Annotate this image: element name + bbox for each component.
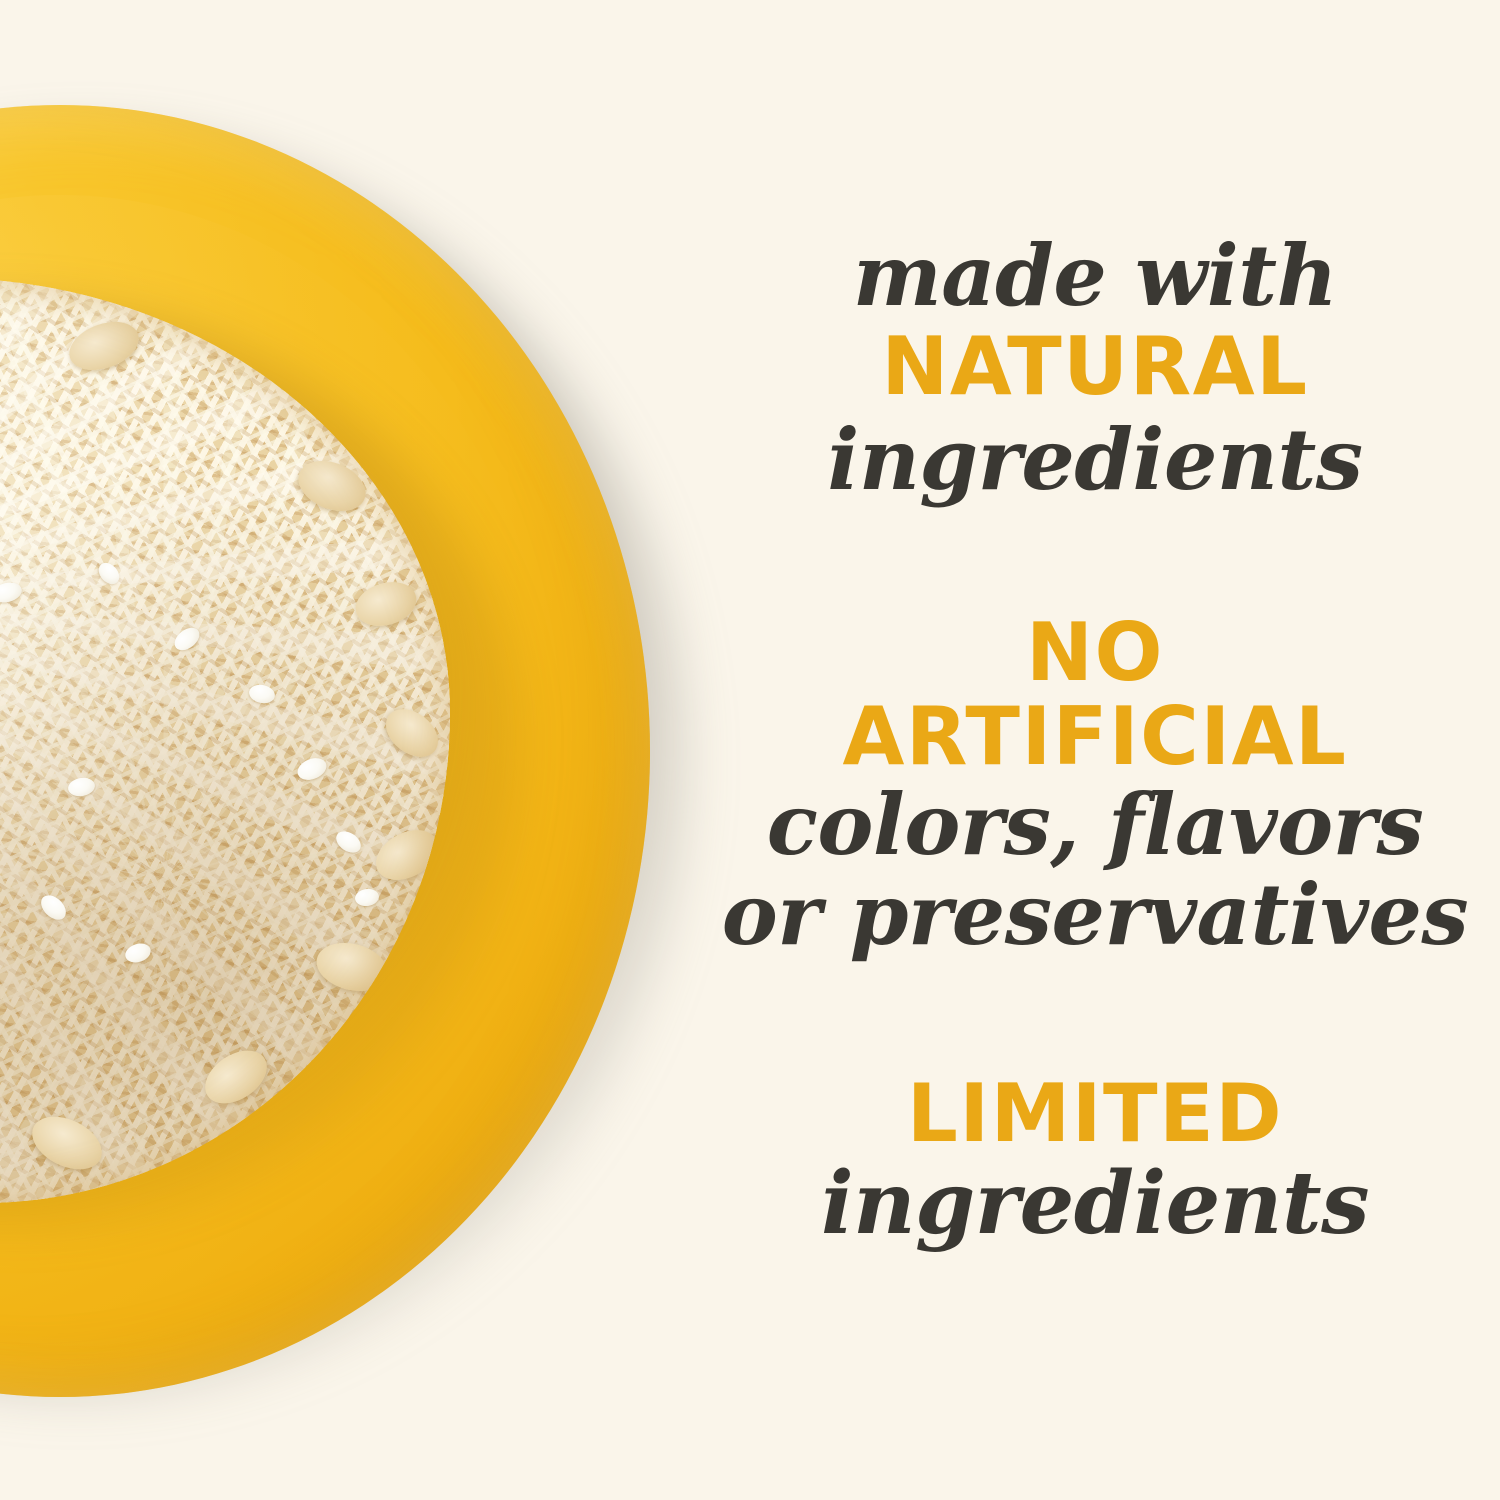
rice-grain <box>295 754 330 784</box>
rice-grain <box>0 580 23 606</box>
rice-grain <box>123 940 153 965</box>
claim-line-emphasis: ARTIFICIAL <box>690 694 1500 780</box>
rice-grain <box>333 827 365 857</box>
food-edge-nib <box>23 1106 110 1180</box>
claim-line: made with <box>690 233 1500 320</box>
food-shading <box>0 278 450 1203</box>
rice-grain <box>67 775 97 797</box>
claim-line-emphasis: NATURAL <box>690 320 1500 414</box>
rice-grain <box>248 682 277 705</box>
promo-image-canvas: made with NATURAL ingredients NO ARTIFIC… <box>0 0 1500 1500</box>
claim-line: ingredients <box>690 1156 1500 1252</box>
claim-block-limited: LIMITED ingredients <box>690 1072 1500 1252</box>
claim-block-artificial: NO ARTIFICIAL colors, flavors or preserv… <box>690 612 1500 958</box>
rice-grain <box>37 890 71 924</box>
claim-line-emphasis: NO <box>690 612 1500 694</box>
food-edge-nib <box>63 313 146 379</box>
food-edge-nib <box>350 576 421 633</box>
claim-line: colors, flavors <box>690 780 1500 871</box>
food-edge-nib <box>195 1040 276 1115</box>
rice-grain <box>170 623 203 654</box>
food-edge-nib <box>291 452 373 521</box>
claim-line: or preservatives <box>690 871 1500 958</box>
claim-block-natural: made with NATURAL ingredients <box>690 233 1500 506</box>
shredded-chicken-and-rice <box>0 278 450 1203</box>
claim-line: ingredients <box>690 414 1500 506</box>
rice-grain <box>94 559 123 588</box>
rice-grain <box>353 887 379 907</box>
claims-column: made with NATURAL ingredients NO ARTIFIC… <box>690 0 1500 1500</box>
claim-line-emphasis: LIMITED <box>690 1072 1500 1156</box>
food-edge-nib <box>377 699 447 766</box>
